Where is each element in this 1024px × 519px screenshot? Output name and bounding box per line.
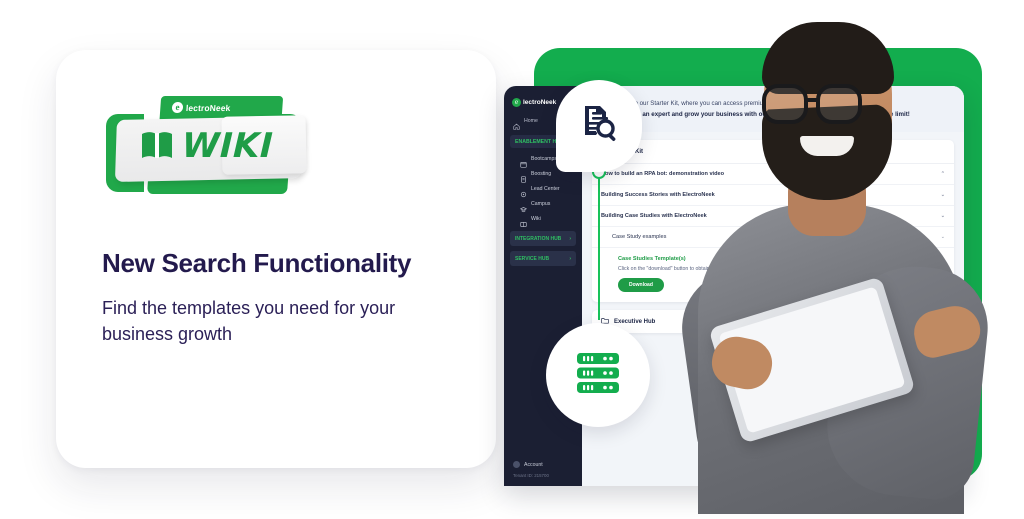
sidebar-item-campus[interactable]: Campus [504, 196, 582, 211]
document-search-bubble [556, 80, 642, 172]
sidebar-section-service-hub[interactable]: SERVICE HUB › [510, 251, 576, 266]
book-icon [140, 130, 174, 160]
wiki-logo: e lectroNeek WIKI [102, 92, 322, 207]
sidebar-brand-name: lectroNeek [523, 99, 556, 106]
electroneek-e-icon: e [172, 102, 184, 113]
sidebar-section-label: INTEGRATION HUB [515, 236, 561, 242]
sidebar-item-label: Home [524, 118, 538, 124]
logo-brand-name: lectroNeek [186, 103, 231, 113]
accordion-label: Building Case Studies with ElectroNeek [601, 213, 707, 219]
server-stack-icon [572, 347, 624, 404]
sidebar-section-label: SERVICE HUB [515, 256, 549, 262]
sidebar-item-label: Lead Center [531, 186, 560, 192]
glasses-right-lens-icon [816, 84, 862, 124]
promo-banner: e lectroNeek WIKI New Search Functionali… [0, 0, 1024, 519]
right-visual-area: e lectroNeek Home ENABLEMENT HUB Bootcam… [496, 0, 1024, 519]
graduation-icon [520, 200, 527, 207]
logo-brand-lockup: e lectroNeek [172, 102, 231, 113]
sidebar-section-integration-hub[interactable]: INTEGRATION HUB › [510, 231, 576, 246]
account-button[interactable]: Account [513, 461, 582, 468]
book-icon [520, 215, 527, 222]
electroneek-e-icon: e [512, 98, 521, 107]
accordion-label: Case Study examples [612, 234, 666, 240]
chevron-right-icon: › [569, 256, 571, 262]
server-stack-bubble [546, 323, 650, 427]
document-search-icon [578, 103, 620, 150]
avatar [513, 461, 520, 468]
download-button[interactable]: Download [618, 278, 664, 292]
rocket-icon [520, 170, 527, 177]
left-content-card: e lectroNeek WIKI New Search Functionali… [56, 50, 496, 468]
sidebar-footer: Account Tenant ID: 215700 [504, 461, 582, 478]
sidebar-item-label: Boosting [531, 171, 551, 177]
sidebar-item-label: Campus [531, 201, 550, 207]
target-icon [520, 185, 527, 192]
home-icon [513, 117, 520, 124]
account-label: Account [524, 462, 543, 468]
connector-line [598, 170, 600, 320]
page-subtitle: Find the templates you need for your bus… [102, 295, 432, 347]
glasses-left-lens-icon [762, 84, 808, 124]
chevron-right-icon: › [569, 236, 571, 242]
executive-hub-title: Executive Hub [614, 319, 655, 325]
sidebar-item-label: Bootcamps [531, 156, 557, 162]
calendar-icon [520, 155, 527, 162]
sidebar-item-wiki[interactable]: Wiki [504, 211, 582, 226]
logo-wiki-word: WIKI [181, 126, 274, 166]
person-smile [800, 136, 854, 156]
sidebar-item-lead-center[interactable]: Lead Center [504, 181, 582, 196]
sidebar-item-label: Wiki [531, 216, 541, 222]
page-title: New Search Functionality [102, 248, 472, 279]
tenant-id-text: Tenant ID: 215700 [513, 473, 582, 478]
glasses-bridge-icon [806, 98, 820, 102]
person-photo [692, 8, 992, 508]
